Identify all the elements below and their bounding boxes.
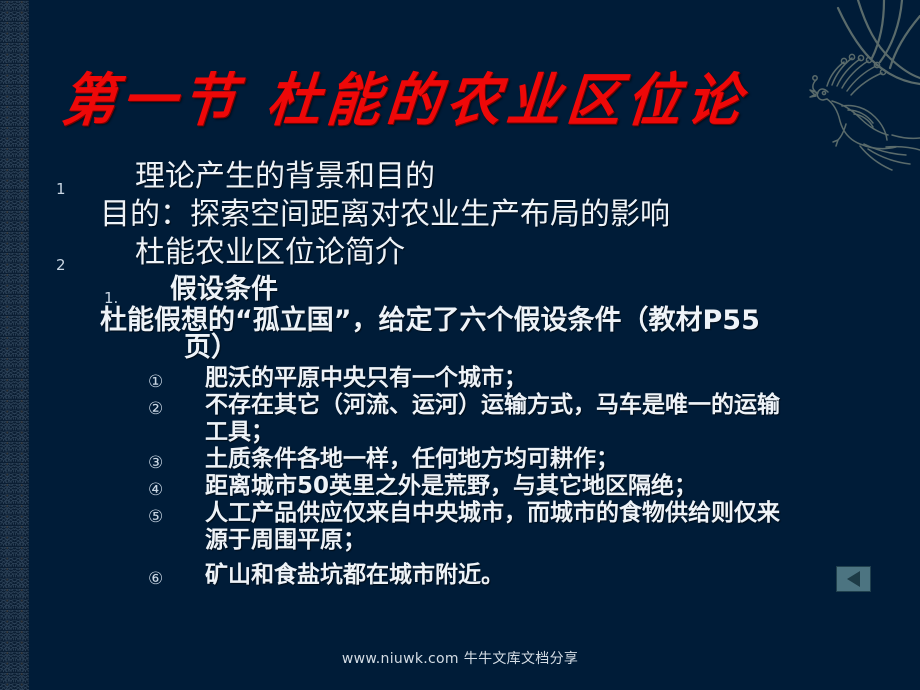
outline-item-level3: ⑥ 矿山和食盐坑都在城市附近。 (0, 562, 870, 589)
presentation-slide: 第一节 杜能的农业区位论 1 理论产生的背景和目的 目的：探索空间距离对农业生产… (0, 0, 920, 690)
outline-item-text-wrap: 源于周围平原； (205, 527, 870, 554)
outline-item-level1: 1 理论产生的背景和目的 (0, 158, 920, 196)
outline-item-text: 假设条件 (170, 274, 278, 305)
outline-item-level3: ⑤ 人工产品供应仅来自中央城市，而城市的食物供给则仅来 源于周围平原； (0, 500, 870, 554)
outline-item-text: 不存在其它（河流、运河）运输方式，马车是唯一的运输 (205, 392, 780, 418)
outline-item-text: 人工产品供应仅来自中央城市，而城市的食物供给则仅来 (205, 500, 780, 526)
slide-body-outline: 1 理论产生的背景和目的 目的：探索空间距离对农业生产布局的影响 2 杜能农业区… (0, 158, 920, 589)
footer-tagline: 牛牛文库文档分享 (464, 651, 578, 667)
outline-item-level1-free: 目的：探索空间距离对农业生产布局的影响 (0, 196, 920, 234)
outline-item-text-wrap: 工具； (205, 419, 870, 446)
outline-item-level1: 2 杜能农业区位论简介 (0, 234, 920, 272)
list-marker: ⑥ (148, 566, 163, 593)
triangle-left-icon (847, 571, 860, 587)
outline-item-level3: ② 不存在其它（河流、运河）运输方式，马车是唯一的运输 工具； (0, 392, 870, 446)
outline-item-level2: 1. 假设条件 (0, 272, 920, 307)
outline-item-level3: ① 肥沃的平原中央只有一个城市； (0, 365, 870, 392)
footer-site-url: www.niuwk.com (342, 651, 459, 667)
outline-item-text: 杜能农业区位论简介 (135, 235, 405, 270)
outline-item-text: 土质条件各地一样，任何地方均可耕作； (205, 446, 619, 472)
outline-item-text: 矿山和食盐坑都在城市附近。 (205, 562, 504, 588)
outline-item-level2-free: 杜能假想的“孤立国”，给定了六个假设条件（教材P55 页） (0, 307, 760, 361)
outline-item-level3: ④ 距离城市50英里之外是荒野，与其它地区隔绝； (0, 473, 870, 500)
outline-item-text: 目的：探索空间距离对农业生产布局的影响 (100, 197, 670, 232)
outline-item-text: 距离城市50英里之外是荒野，与其它地区隔绝； (205, 473, 697, 499)
outline-item-text: 肥沃的平原中央只有一个城市； (205, 365, 527, 391)
outline-item-text-wrap: 页） (100, 334, 760, 361)
list-marker: ⑤ (148, 504, 163, 531)
previous-slide-button[interactable] (836, 566, 871, 592)
page-title: 第一节 杜能的农业区位论 (59, 53, 751, 137)
footer-watermark: www.niuwk.com牛牛文库文档分享 (0, 648, 920, 668)
outline-item-text: 理论产生的背景和目的 (135, 159, 435, 194)
list-marker: ② (148, 396, 163, 423)
outline-item-level3: ③ 土质条件各地一样，任何地方均可耕作； (0, 446, 870, 473)
